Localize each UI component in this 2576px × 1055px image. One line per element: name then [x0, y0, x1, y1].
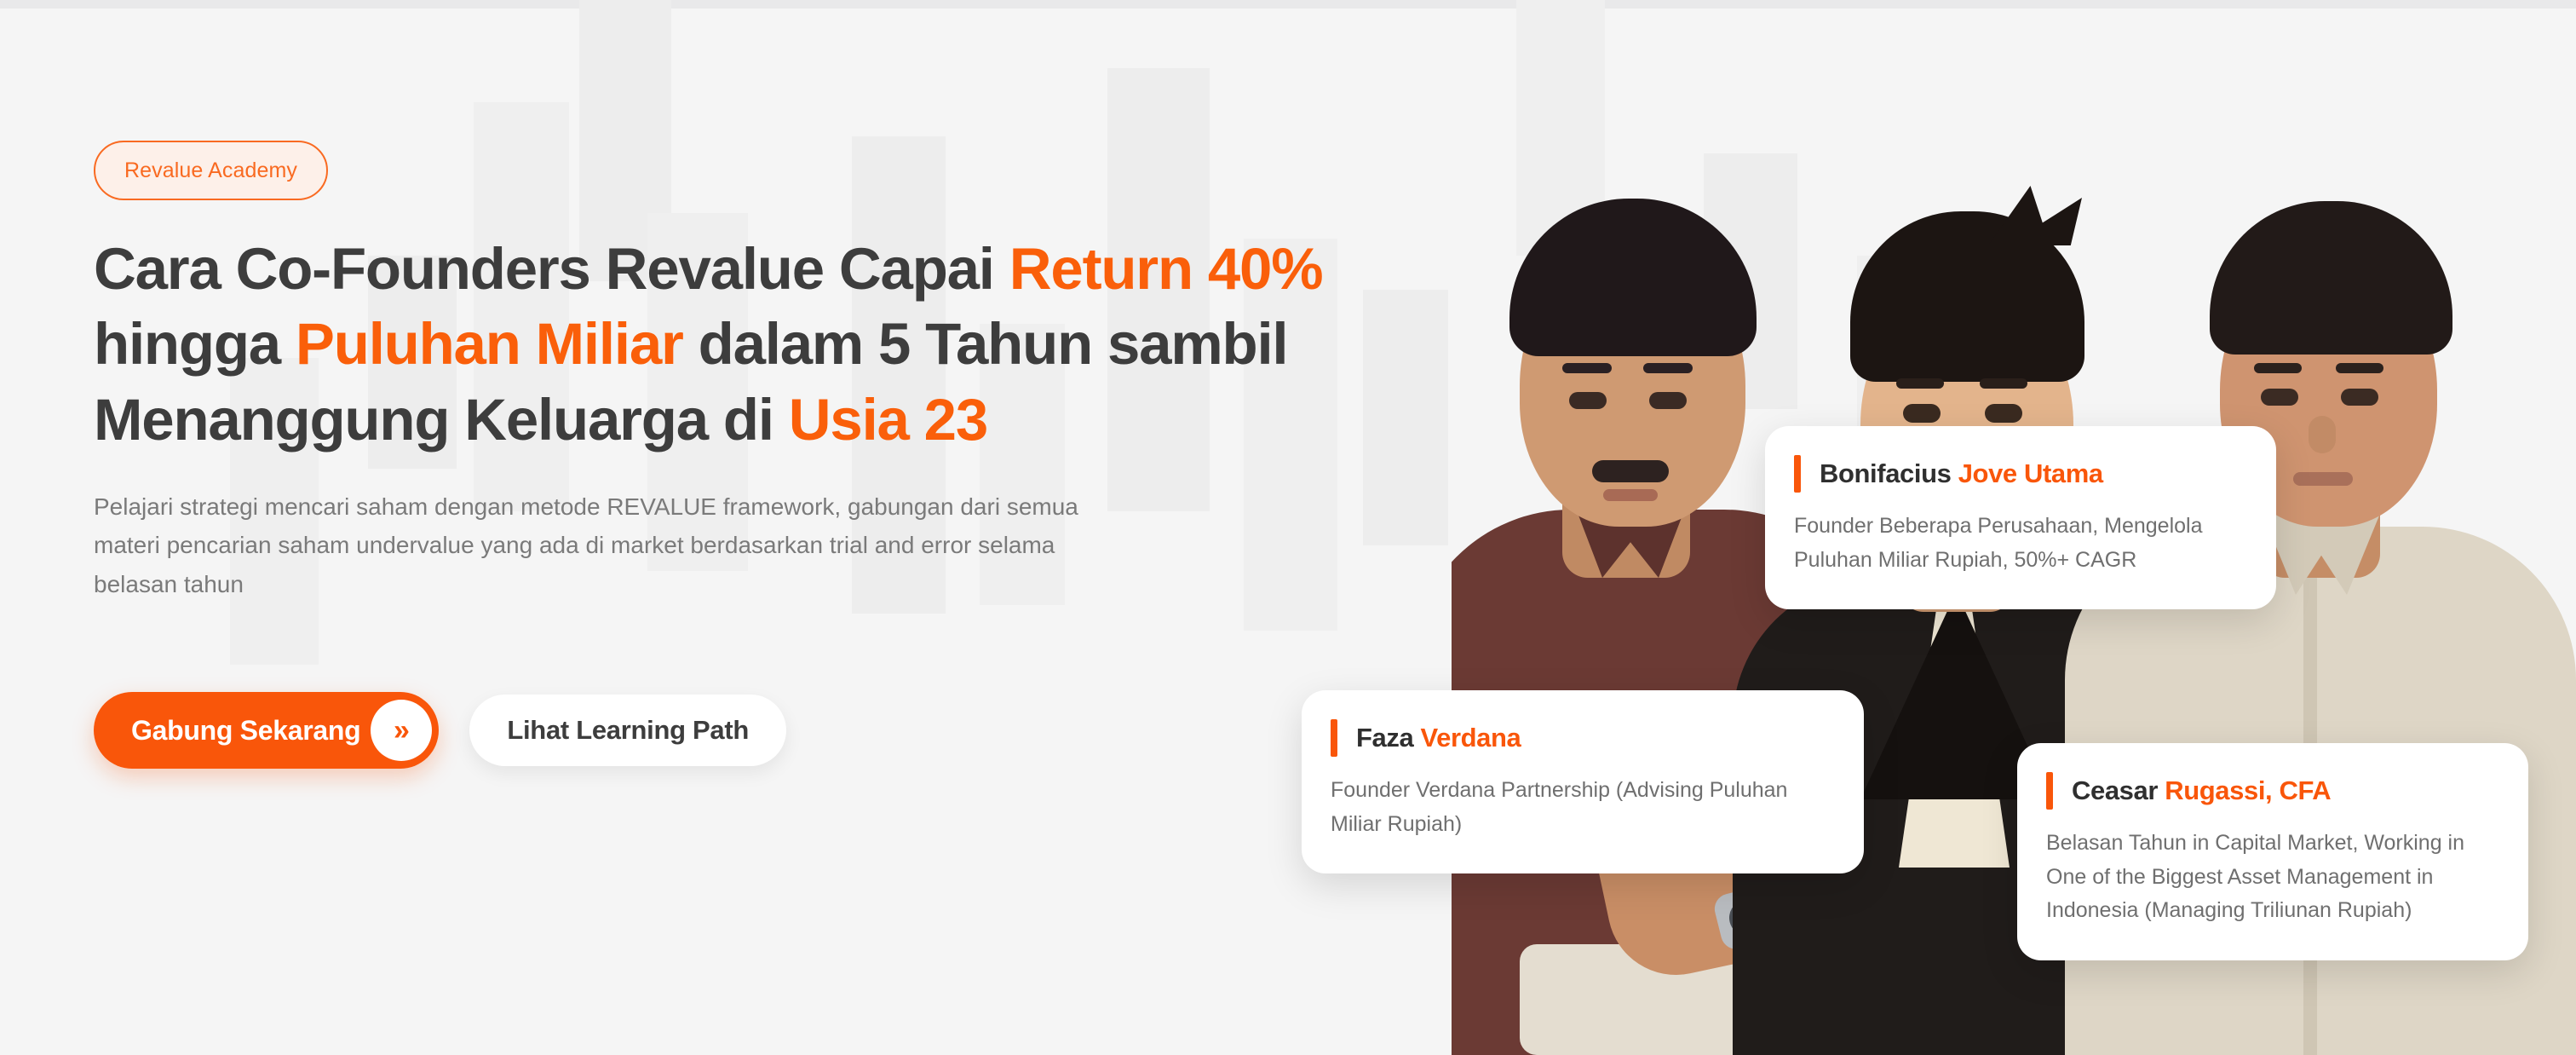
- accent-bar-icon: [1331, 719, 1337, 757]
- headline-highlight-2: Puluhan Miliar: [296, 311, 683, 377]
- profile-last-name: Verdana: [1421, 723, 1521, 752]
- profile-first-name: Ceasar: [2072, 775, 2158, 805]
- profile-last-name: Jove Utama: [1958, 458, 2103, 488]
- accent-bar-icon: [1794, 455, 1801, 493]
- headline-part-1: Cara Co-Founders Revalue Capai: [94, 236, 1009, 302]
- cta-button-row: Gabung Sekarang » Lihat Learning Path: [94, 692, 786, 769]
- profile-first-name: Faza: [1356, 723, 1413, 752]
- profile-card-ceasar[interactable]: Ceasar Rugassi, CFA Belasan Tahun in Cap…: [2017, 743, 2528, 960]
- view-learning-path-button[interactable]: Lihat Learning Path: [469, 695, 786, 766]
- profile-name: Bonifacius Jove Utama: [1820, 458, 2103, 489]
- join-now-label: Gabung Sekarang: [131, 715, 360, 747]
- profile-description: Founder Beberapa Perusahaan, Mengelola P…: [1794, 510, 2242, 577]
- hero-section: Revalue Academy Cara Co-Founders Revalue…: [0, 0, 2576, 1055]
- double-chevron-right-icon: »: [371, 700, 432, 761]
- headline-highlight-3: Usia 23: [789, 387, 987, 453]
- profile-name: Faza Verdana: [1356, 723, 1521, 753]
- profile-first-name: Bonifacius: [1820, 458, 1951, 488]
- profile-description: Belasan Tahun in Capital Market, Working…: [2046, 827, 2494, 928]
- academy-badge: Revalue Academy: [94, 141, 328, 200]
- profile-description: Founder Verdana Partnership (Advising Pu…: [1331, 774, 1830, 841]
- academy-badge-label: Revalue Academy: [124, 159, 297, 183]
- profile-card-faza[interactable]: Faza Verdana Founder Verdana Partnership…: [1302, 690, 1864, 873]
- hero-content: Revalue Academy Cara Co-Founders Revalue…: [94, 0, 1474, 1055]
- profile-card-bonifacius[interactable]: Bonifacius Jove Utama Founder Beberapa P…: [1765, 426, 2276, 609]
- profile-last-name: Rugassi, CFA: [2165, 775, 2331, 805]
- profile-name-row: Faza Verdana: [1331, 719, 1830, 757]
- profile-name-row: Ceasar Rugassi, CFA: [2046, 772, 2494, 810]
- accent-bar-icon: [2046, 772, 2053, 810]
- hero-subtitle: Pelajari strategi mencari saham dengan m…: [94, 487, 1099, 603]
- profile-name-row: Bonifacius Jove Utama: [1794, 455, 2242, 493]
- headline-highlight-1: Return 40%: [1009, 236, 1323, 302]
- profile-name: Ceasar Rugassi, CFA: [2072, 775, 2331, 806]
- headline-part-2: hingga: [94, 311, 296, 377]
- join-now-button[interactable]: Gabung Sekarang »: [94, 692, 439, 769]
- page-title: Cara Co-Founders Revalue Capai Return 40…: [94, 232, 1423, 458]
